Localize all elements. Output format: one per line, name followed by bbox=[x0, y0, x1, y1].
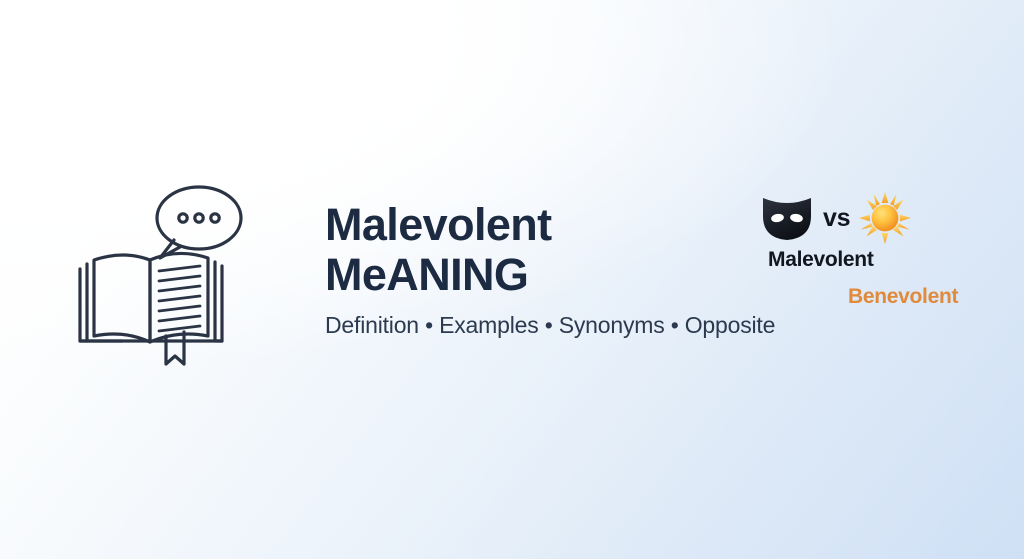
page-title-line-1: Malevolent bbox=[325, 200, 755, 250]
open-book-with-speech-bubble-icon bbox=[62, 168, 272, 368]
theatrical-mask-icon bbox=[760, 194, 814, 242]
comparison-icons-row: vs bbox=[760, 192, 911, 244]
book-page-left bbox=[94, 255, 150, 342]
vs-label: vs bbox=[823, 204, 850, 233]
comparison-block: vs bbox=[760, 192, 1010, 322]
speech-dot-1 bbox=[179, 214, 187, 222]
banner-graphic: Malevolent MeANING Definition • Examples… bbox=[0, 0, 1024, 559]
book-cover-back-right bbox=[217, 266, 222, 341]
benevolent-label: Benevolent bbox=[848, 285, 958, 309]
speech-bubble-shape bbox=[157, 187, 241, 249]
title-block: Malevolent MeANING Definition • Examples… bbox=[325, 200, 755, 339]
sun-icon bbox=[859, 192, 911, 244]
speech-dot-2 bbox=[195, 214, 203, 222]
book-text-lines bbox=[159, 266, 200, 331]
malevolent-label: Malevolent bbox=[768, 248, 874, 272]
page-subtitle: Definition • Examples • Synonyms • Oppos… bbox=[325, 312, 755, 339]
speech-dot-3 bbox=[211, 214, 219, 222]
page-title-line-2: MeANING bbox=[325, 250, 755, 300]
